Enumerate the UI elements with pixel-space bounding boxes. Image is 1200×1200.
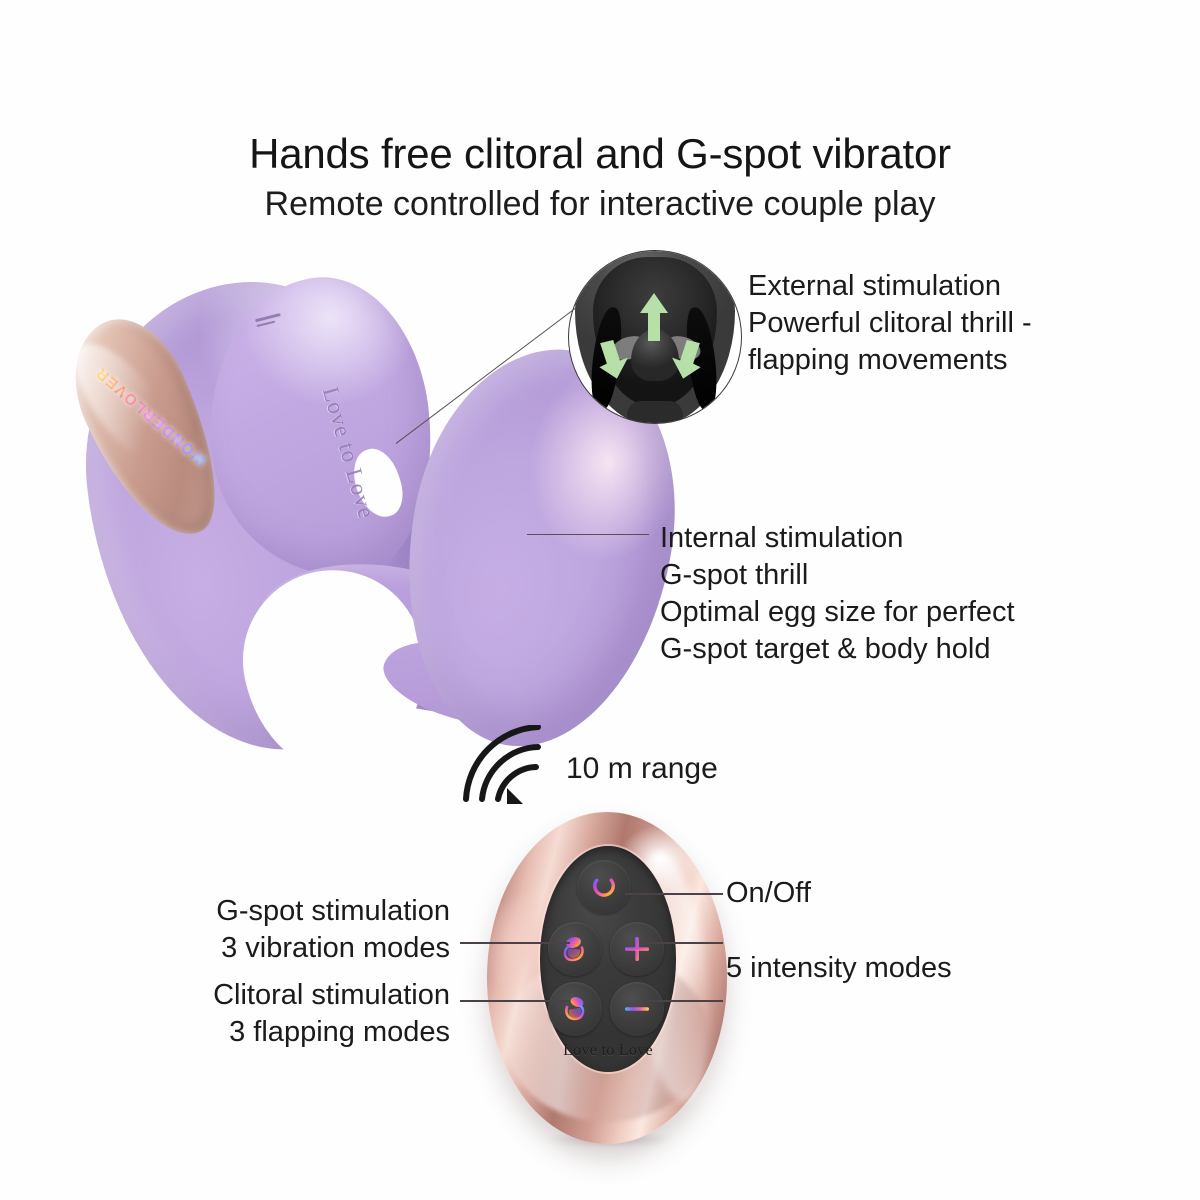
magnifier-base — [627, 401, 683, 424]
minus-button[interactable] — [610, 982, 664, 1036]
leader-line-internal — [527, 534, 649, 535]
page-subtitle: Remote controlled for interactive couple… — [0, 185, 1200, 224]
minus-icon — [622, 994, 652, 1024]
plus-icon — [622, 934, 652, 964]
callout-internal-line-2: G-spot thrill — [660, 557, 1015, 594]
label-intensity-modes: 5 intensity modes — [726, 950, 952, 987]
callout-external: External stimulation Powerful clitoral t… — [748, 268, 1032, 379]
label-clitoral-line-2: 3 flapping modes — [40, 1014, 450, 1051]
arrow-up-icon — [631, 291, 677, 343]
infographic-canvas: Hands free clitoral and G-spot vibrator … — [0, 0, 1200, 1200]
callout-internal-line-3: Optimal egg size for perfect — [660, 594, 1015, 631]
magnifier-circle — [568, 250, 742, 424]
leader-line-on-off — [625, 893, 723, 895]
callout-internal: Internal stimulation G-spot thrill Optim… — [660, 520, 1015, 668]
label-gspot-stimulation: G-spot stimulation 3 vibration modes — [40, 893, 450, 967]
gspot-toy-icon — [559, 933, 591, 965]
remote-control[interactable]: Love to Love — [487, 812, 727, 1152]
leader-line-intensity-plus — [640, 942, 723, 944]
wifi-signal-icon — [460, 725, 560, 805]
power-button[interactable] — [577, 860, 631, 914]
remote-button-panel: Love to Love — [540, 846, 676, 1072]
callout-external-line-3: flapping movements — [748, 342, 1032, 379]
callout-external-line-1: External stimulation — [748, 268, 1032, 305]
label-clitoral-stimulation: Clitoral stimulation 3 flapping modes — [40, 977, 450, 1051]
label-gspot-line-2: 3 vibration modes — [40, 930, 450, 967]
label-gspot-line-1: G-spot stimulation — [40, 893, 450, 930]
callout-internal-line-1: Internal stimulation — [660, 520, 1015, 557]
page-title: Hands free clitoral and G-spot vibrator — [0, 130, 1200, 178]
clitoral-button[interactable] — [548, 982, 602, 1036]
power-icon — [589, 872, 619, 902]
gspot-button[interactable] — [548, 922, 602, 976]
range-label: 10 m range — [566, 750, 718, 788]
remote-brand-text: Love to Love — [540, 1042, 676, 1060]
plus-button[interactable] — [610, 922, 664, 976]
leader-line-gspot — [460, 942, 570, 944]
label-clitoral-line-1: Clitoral stimulation — [40, 977, 450, 1014]
clitoral-toy-icon — [559, 993, 591, 1025]
label-on-off: On/Off — [726, 875, 811, 912]
leader-line-clitoral — [460, 1000, 570, 1002]
callout-external-line-2: Powerful clitoral thrill - — [748, 305, 1032, 342]
callout-internal-line-4: G-spot target & body hold — [660, 631, 1015, 668]
leader-line-intensity-minus — [643, 1000, 723, 1002]
